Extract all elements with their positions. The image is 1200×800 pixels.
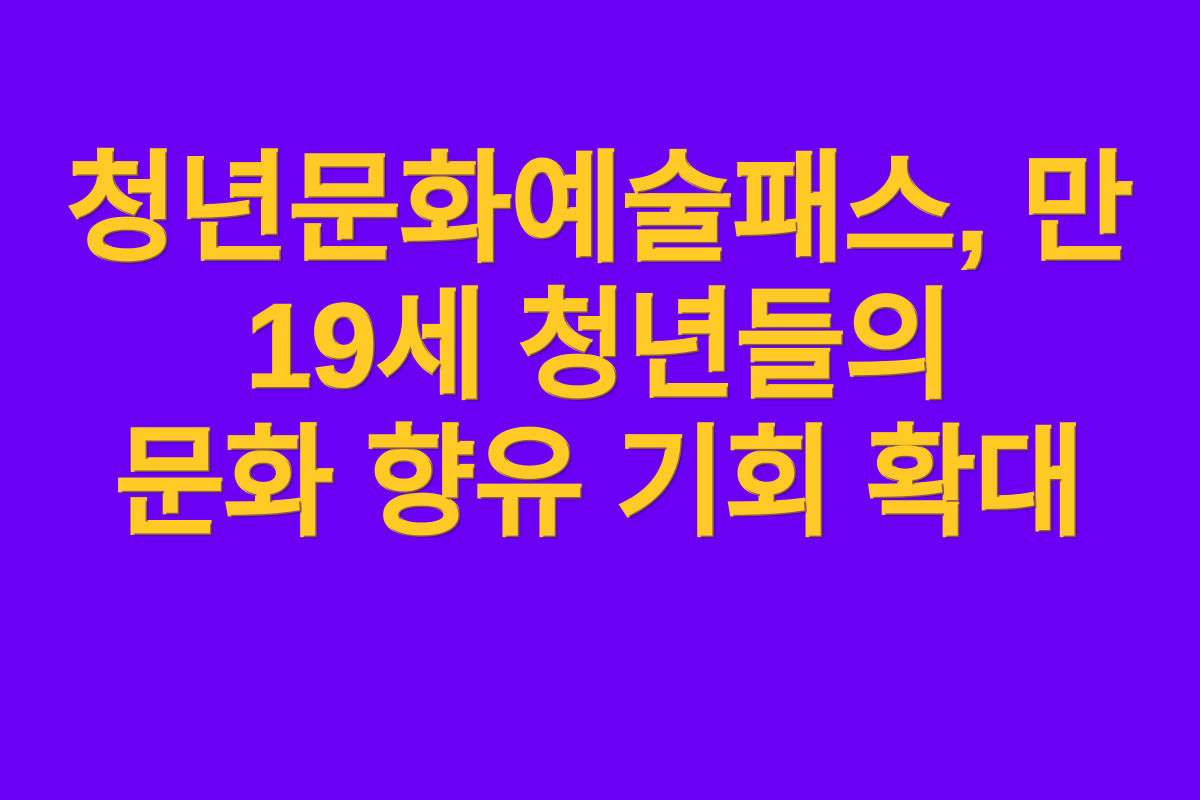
page-title: 청년문화예술패스, 만 19세 청년들의 문화 향유 기회 확대 xyxy=(0,0,1200,543)
headline-line-2: 19세 청년들의 xyxy=(0,287,1200,406)
banner-card: 청년문화예술패스, 만 19세 청년들의 문화 향유 기회 확대 xyxy=(0,0,1200,800)
headline-line-3: 문화 향유 기회 확대 xyxy=(0,424,1200,543)
headline-line-1: 청년문화예술패스, 만 xyxy=(0,150,1200,269)
